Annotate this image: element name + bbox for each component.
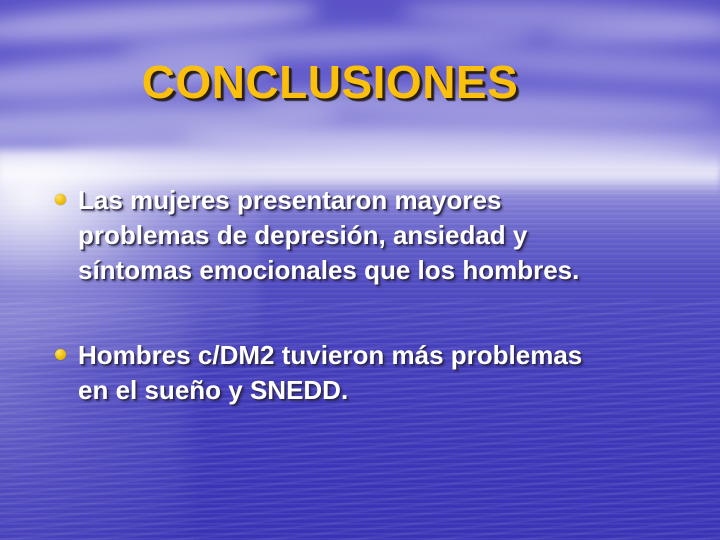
bullet-item: Hombres c/DM2 tuvieron más problemas en … (50, 338, 680, 408)
slide-body: Las mujeres presentaron mayores problema… (50, 183, 680, 408)
slide-title: CONCLUSIONES (0, 55, 660, 109)
round-bullet-icon (55, 194, 66, 205)
bullet-item: Las mujeres presentaron mayores problema… (50, 183, 680, 288)
bullet-line: Las mujeres presentaron mayores (78, 183, 680, 218)
bullet-line: en el sueño y SNEDD. (78, 373, 680, 408)
cloud-icon (540, 17, 720, 48)
cloud-icon (0, 0, 321, 49)
bullet-text: Hombres c/DM2 tuvieron más problemas en … (78, 338, 680, 408)
cloud-icon (400, 0, 720, 38)
bullet-line: Hombres c/DM2 tuvieron más problemas (78, 338, 680, 373)
bullet-line: síntomas emocionales que los hombres. (78, 253, 680, 288)
presentation-slide: CONCLUSIONES Las mujeres presentaron may… (0, 0, 720, 540)
round-bullet-icon (55, 349, 66, 360)
bullet-line: problemas de depresión, ansiedad y (78, 218, 680, 253)
bullet-text: Las mujeres presentaron mayores problema… (78, 183, 680, 288)
